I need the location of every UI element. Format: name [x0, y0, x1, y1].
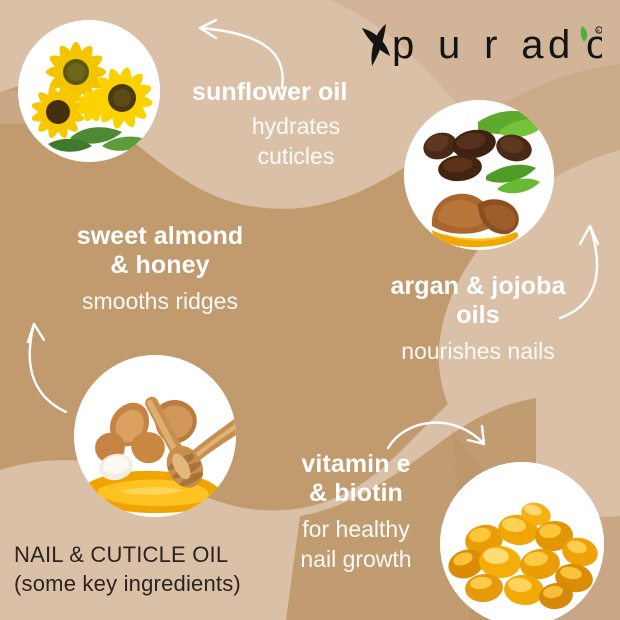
title-line: oils	[352, 301, 604, 330]
title-line: & honey	[34, 251, 286, 280]
caption-line-1: NAIL & CUTICLE OIL	[14, 540, 334, 569]
title-line: vitamin e	[256, 450, 456, 479]
title-line: & biotin	[256, 479, 456, 508]
ingredient-block-sunflower: sunflower oil hydrates cuticles	[186, 78, 406, 171]
svg-text:pura: pura	[392, 23, 544, 66]
ingredient-benefit-argan-jojoba: nourishes nails	[352, 336, 604, 366]
ingredient-benefit-sunflower: hydrates cuticles	[186, 111, 406, 171]
sunflower-photo	[18, 20, 160, 162]
brand-logo: pura d o r R	[360, 22, 602, 66]
ingredient-title-almond-honey: sweet almond & honey	[34, 222, 286, 280]
caption-line-2: (some key ingredients)	[14, 569, 334, 598]
ingredient-title-vitamin-e-biotin: vitamin e & biotin	[256, 450, 456, 508]
svg-text:d: d	[548, 23, 569, 66]
ingredient-block-almond-honey: sweet almond & honey smooths ridges	[34, 222, 286, 316]
product-ingredient-infographic: pura d o r R	[0, 0, 620, 620]
ingredient-benefit-almond-honey: smooths ridges	[34, 286, 286, 316]
arrow-to-almond-honey-icon	[4, 300, 82, 418]
title-line: argan & jojoba	[352, 272, 604, 301]
almond-honey-photo	[74, 355, 236, 517]
argan-jojoba-photo	[404, 100, 554, 250]
leaf-mark-icon	[362, 24, 390, 66]
ingredient-block-argan-jojoba: argan & jojoba oils nourishes nails	[352, 272, 604, 366]
title-line: sweet almond	[34, 222, 286, 251]
ingredient-title-sunflower: sunflower oil	[186, 78, 406, 107]
benefit-line: hydrates	[186, 111, 406, 141]
ingredient-title-argan-jojoba: argan & jojoba oils	[352, 272, 604, 330]
benefit-line: cuticles	[186, 141, 406, 171]
product-caption: NAIL & CUTICLE OIL (some key ingredients…	[14, 540, 334, 598]
